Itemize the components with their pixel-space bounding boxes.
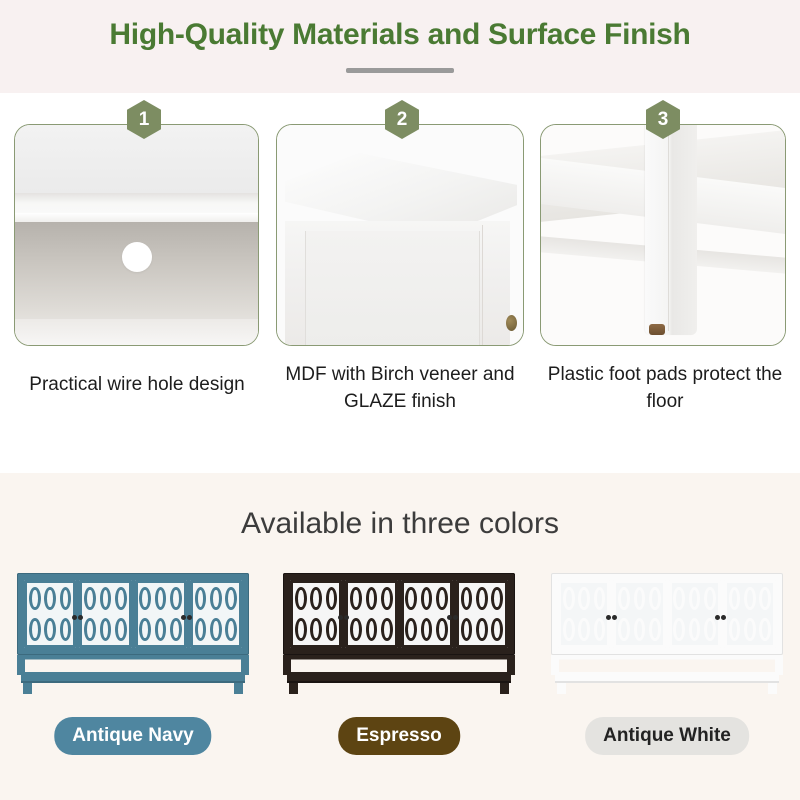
door-lattice-pattern [459,583,505,645]
cabinet-legs [17,683,249,694]
door-lattice-pattern [82,583,128,645]
door-knob-pair [551,615,783,620]
page-title: High-Quality Materials and Surface Finis… [0,18,800,52]
lattice-circle [293,583,308,614]
lattice-circle [727,583,742,614]
lattice-circle [138,583,153,614]
lattice-circle [576,583,591,614]
cabinet-door [558,580,610,648]
cabinet-door [290,580,342,648]
lattice-circle [379,583,394,614]
door-lattice-pattern [293,583,339,645]
lattice-circle [193,583,208,614]
door-knob-pair [283,615,515,620]
cabinet-bottom-shelf [287,672,511,683]
cabinet-door [24,580,76,648]
cabinet-leg [557,683,566,694]
lattice-circle [98,583,113,614]
feature-card-2 [276,124,524,346]
cabinet-side-seam [482,225,483,345]
feature-caption-3: Plastic foot pads protect the floor [540,362,790,416]
cabinet-body [551,573,783,655]
feature-card-1 [14,124,259,346]
plastic-foot-pad-icon [649,324,665,335]
floor-surface [15,319,258,345]
title-divider [346,68,454,73]
color-option-espresso[interactable]: Espresso [266,573,532,788]
leg-foot-pad-image [541,125,785,345]
lattice-circle [42,583,57,614]
lattice-circle [324,583,339,614]
lattice-circle [404,583,419,614]
door-knob-pair [17,615,249,620]
wire-hole-image [15,125,258,345]
color-options-section: Available in three colors Antique Navy [0,473,800,800]
cabinet-doors [558,580,776,648]
sideboard-image-espresso [283,573,515,693]
lattice-circle [153,583,168,614]
cabinet-leg [23,683,32,694]
feature-card-3 [540,124,786,346]
feature-card-row: 1 2 3 [0,100,800,345]
lattice-circle [758,583,773,614]
cabinet-door [669,580,721,648]
cabinet-door [135,580,187,648]
cabinet-door [79,580,131,648]
cabinet-leg [768,683,777,694]
cabinet-leg [234,683,243,694]
door-knob-icon [447,615,452,620]
lattice-circle [208,583,223,614]
lattice-circle [434,583,449,614]
door-lattice-pattern [348,583,394,645]
color-label-espresso[interactable]: Espresso [338,717,460,755]
lattice-circle [58,583,73,614]
lattice-circle [27,583,42,614]
cabinet-bottom-shelf [555,672,779,683]
cabinet-corner-image [277,125,523,345]
cabinet-door [613,580,665,648]
lattice-circle [419,583,434,614]
sideboard-image-navy [17,573,249,693]
lattice-circle [168,583,183,614]
cabinet-front-panel [305,231,480,345]
cabinet-door [724,580,776,648]
wire-hole-icon [122,242,152,272]
cabinet-door [190,580,242,648]
product-feature-page: High-Quality Materials and Surface Finis… [0,0,800,800]
cabinet-door [456,580,508,648]
lattice-circle [687,583,702,614]
table-leg [645,124,697,335]
cabinet-knob-icon [506,315,517,331]
door-lattice-pattern [193,583,239,645]
door-lattice-pattern [27,583,73,645]
door-lattice-pattern [672,583,718,645]
cabinet-body [283,573,515,655]
table-leg-seam [668,124,669,331]
lattice-circle [616,583,631,614]
cabinet-door [345,580,397,648]
door-lattice-pattern [404,583,450,645]
door-knob-icon [187,615,192,620]
lattice-circle [224,583,239,614]
feature-caption-2: MDF with Birch veneer and GLAZE finish [276,362,524,416]
color-option-antique-navy[interactable]: Antique Navy [0,573,266,788]
lattice-circle [113,583,128,614]
door-knob-icon [721,615,726,620]
door-lattice-pattern [561,583,607,645]
lattice-circle [632,583,647,614]
lattice-circle [459,583,474,614]
color-option-antique-white[interactable]: Antique White [534,573,800,788]
door-lattice-pattern [138,583,184,645]
color-label-antique-white[interactable]: Antique White [585,717,749,755]
lattice-circle [561,583,576,614]
lattice-circle [647,583,662,614]
lattice-circle [364,583,379,614]
lattice-circle [474,583,489,614]
lattice-circle [592,583,607,614]
cabinet-door [401,580,453,648]
lattice-circle [82,583,97,614]
cabinet-bottom-shelf [21,672,245,683]
cabinet-leg [500,683,509,694]
door-lattice-pattern [727,583,773,645]
shelf-front-edge [15,213,258,222]
cabinet-legs [551,683,783,694]
cabinet-doors [24,580,242,648]
cabinet-body [17,573,249,655]
door-knob-icon [181,615,186,620]
feature-caption-1: Practical wire hole design [14,372,260,399]
cabinet-doors [290,580,508,648]
lattice-circle [672,583,687,614]
sideboard-image-white [551,573,783,693]
cabinet-leg [289,683,298,694]
color-section-title: Available in three colors [0,507,800,541]
shelf-top-surface [15,193,258,215]
lattice-circle [348,583,363,614]
lattice-circle [490,583,505,614]
cabinet-legs [283,683,515,694]
lattice-circle [742,583,757,614]
door-knob-icon [715,615,720,620]
color-label-antique-navy[interactable]: Antique Navy [54,717,211,755]
door-knob-icon [453,615,458,620]
lattice-circle [702,583,717,614]
lattice-circle [308,583,323,614]
door-lattice-pattern [616,583,662,645]
